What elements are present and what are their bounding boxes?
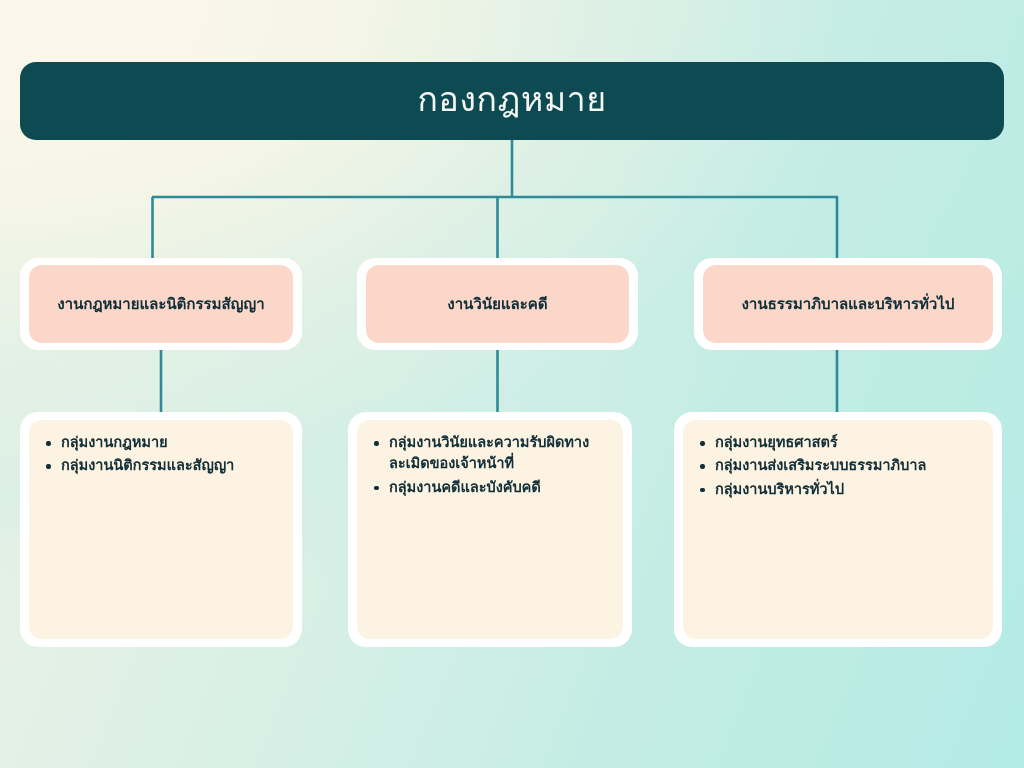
branch-card-law-contracts[interactable]: งานกฎหมายและนิติกรรมสัญญา <box>20 258 302 350</box>
chart-title-bar: กองกฎหมาย <box>20 62 1004 140</box>
unit-list: กลุ่มงานกฎหมาย กลุ่มงานนิติกรรมและสัญญา <box>37 433 283 478</box>
list-item: กลุ่มงานคดีและบังคับคดี <box>387 478 613 499</box>
branch-card-inner: งานวินัยและคดี <box>366 265 629 343</box>
branch-card-governance-admin[interactable]: งานธรรมาภิบาลและบริหารทั่วไป <box>694 258 1002 350</box>
branch-card-discipline-cases[interactable]: งานวินัยและคดี <box>357 258 638 350</box>
unit-list-card-discipline-cases: กลุ่มงานวินัยและความรับผิดทางละเมิดของเจ… <box>348 412 632 647</box>
unit-list: กลุ่มงานยุทธศาสตร์ กลุ่มงานส่งเสริมระบบธ… <box>691 433 983 501</box>
unit-list-card-law-contracts: กลุ่มงานกฎหมาย กลุ่มงานนิติกรรมและสัญญา <box>20 412 302 647</box>
branch-label: งานธรรมาภิบาลและบริหารทั่วไป <box>742 294 955 315</box>
list-item: กลุ่มงานกฎหมาย <box>59 433 283 454</box>
branch-card-inner: งานธรรมาภิบาลและบริหารทั่วไป <box>703 265 993 343</box>
list-item: กลุ่มงานบริหารทั่วไป <box>713 480 983 501</box>
branch-label: งานวินัยและคดี <box>447 294 547 315</box>
list-item: กลุ่มงานนิติกรรมและสัญญา <box>59 456 283 477</box>
list-item: กลุ่มงานยุทธศาสตร์ <box>713 433 983 454</box>
unit-list-inner: กลุ่มงานวินัยและความรับผิดทางละเมิดของเจ… <box>357 420 623 639</box>
branch-label: งานกฎหมายและนิติกรรมสัญญา <box>57 294 264 315</box>
list-item: กลุ่มงานวินัยและความรับผิดทางละเมิดของเจ… <box>387 433 613 476</box>
org-chart-canvas: กองกฎหมาย งานกฎหมายและนิติกรรมสัญญา งานว… <box>0 0 1024 768</box>
list-item: กลุ่มงานส่งเสริมระบบธรรมาภิบาล <box>713 456 983 477</box>
unit-list: กลุ่มงานวินัยและความรับผิดทางละเมิดของเจ… <box>365 433 613 499</box>
unit-list-card-governance-admin: กลุ่มงานยุทธศาสตร์ กลุ่มงานส่งเสริมระบบธ… <box>674 412 1002 647</box>
unit-list-inner: กลุ่มงานยุทธศาสตร์ กลุ่มงานส่งเสริมระบบธ… <box>683 420 993 639</box>
unit-list-inner: กลุ่มงานกฎหมาย กลุ่มงานนิติกรรมและสัญญา <box>29 420 293 639</box>
branch-card-inner: งานกฎหมายและนิติกรรมสัญญา <box>29 265 293 343</box>
page-title: กองกฎหมาย <box>417 82 606 119</box>
